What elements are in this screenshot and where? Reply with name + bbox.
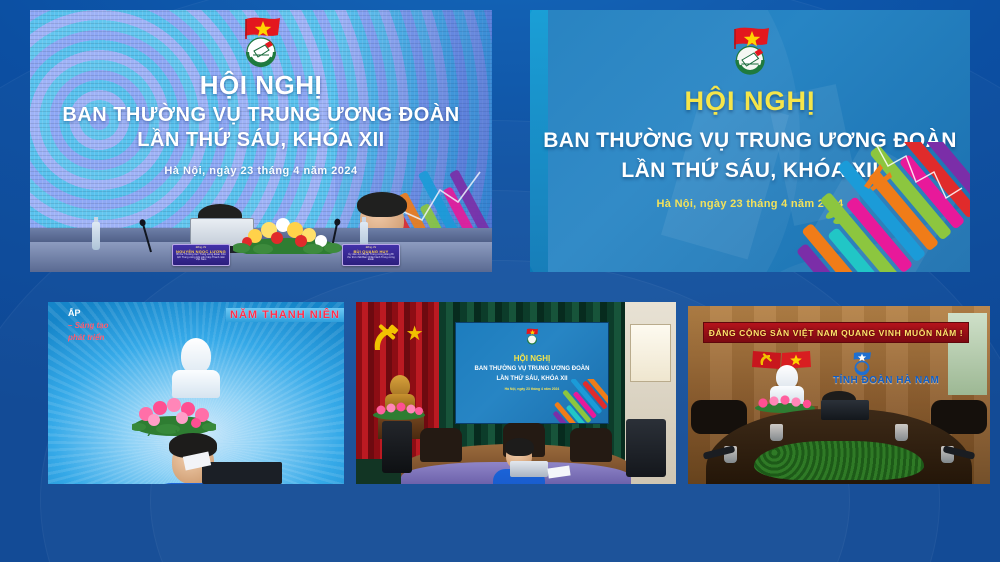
ho-chi-minh-communist-youth-union-emblem <box>727 26 773 80</box>
hammer-and-sickle-emblem <box>369 322 409 356</box>
chair <box>570 428 612 462</box>
slide-heading: HỘI NGHỊ <box>530 86 970 117</box>
laptop <box>510 461 548 477</box>
bust-body <box>172 370 220 398</box>
backdrop-text-top: ẤP <box>68 308 81 318</box>
remote-participant-feed-2[interactable]: ★ HỘI NGHỊ BAN THƯỜNG VỤ TRUNG ƯƠNG ĐOÀN… <box>356 302 676 484</box>
backdrop-text-mid: – Sáng tạo <box>68 321 108 330</box>
hair <box>505 438 535 456</box>
water-bottle <box>92 222 100 250</box>
shared-presentation-slide[interactable]: HỘI NGHỊ BAN THƯỜNG VỤ TRUNG ƯƠNG ĐOÀN L… <box>530 10 970 272</box>
table-plant-arrangement <box>754 441 923 480</box>
yellow-star-emblem: ★ <box>406 324 424 344</box>
backdrop-banner: NĂM THANH NIÊN <box>226 308 344 322</box>
laptop <box>202 462 282 484</box>
youth-union-logo <box>851 351 873 377</box>
equipment-rack <box>626 419 666 477</box>
wall-title-line1: HỘI NGHỊ <box>30 72 492 99</box>
laptop <box>821 400 869 420</box>
chair <box>420 428 462 462</box>
water-glass <box>770 424 783 441</box>
bust-head <box>181 338 211 374</box>
ho-chi-minh-communist-youth-union-emblem <box>238 15 284 73</box>
ho-chi-minh-communist-youth-union-emblem <box>524 328 539 346</box>
hair <box>357 192 406 218</box>
backdrop-text-left: ẤP – Sáng tạo phát triển <box>68 308 108 342</box>
remote-participant-feed-3[interactable]: ĐẢNG CỘNG SẢN VIỆT NAM QUANG VINH MUÔN N… <box>688 306 990 484</box>
water-glass <box>895 424 908 441</box>
wall-title-line2: BAN THƯỜNG VỤ TRUNG ƯƠNG ĐOÀN <box>30 103 492 128</box>
nameplate: Đồng chí BÙI QUANG HUY Ủy viên dự khuyết… <box>342 244 400 266</box>
remote-participant-feed-1[interactable]: ẤP – Sáng tạo phát triển NĂM THANH NIÊN <box>48 302 344 484</box>
nameplate-role: Ủy viên dự khuyết Trung ương Đảng Bí thư… <box>346 254 396 262</box>
framed-certificate <box>630 324 672 382</box>
nameplate: Đồng chí NGUYỄN NGỌC LƯƠNG Bí thư Thường… <box>172 244 230 266</box>
organization-label: TỈNH ĐOÀN HÀ NAM <box>833 375 939 386</box>
flower-arrangement <box>132 396 216 436</box>
flower-arrangement <box>233 208 343 254</box>
nameplate-role: Bí thư Thường trực Trung ương Đoàn Chủ t… <box>176 254 226 262</box>
backdrop-text-bot: phát triển <box>68 333 108 342</box>
slogan-banner: ĐẢNG CỘNG SẢN VIỆT NAM QUANG VINH MUÔN N… <box>703 322 969 343</box>
ho-chi-minh-bust <box>172 338 220 400</box>
video-conference-stage: HỘI NGHỊ BAN THƯỜNG VỤ TRUNG ƯƠNG ĐOÀN L… <box>0 0 1000 562</box>
presentation-screen: HỘI NGHỊ BAN THƯỜNG VỤ TRUNG ƯƠNG ĐOÀN L… <box>455 322 609 424</box>
loudspeaker <box>382 421 412 473</box>
screen-subheading-line1: BAN THƯỜNG VỤ TRUNG ƯƠNG ĐOÀN <box>456 365 608 373</box>
decorative-colorful-bars <box>546 379 608 423</box>
decorative-colorful-bars <box>780 142 970 272</box>
screen-heading: HỘI NGHỊ <box>456 354 608 363</box>
main-speaker-feed[interactable]: HỘI NGHỊ BAN THƯỜNG VỤ TRUNG ƯƠNG ĐOÀN L… <box>30 10 492 272</box>
flower-arrangement <box>372 402 426 420</box>
